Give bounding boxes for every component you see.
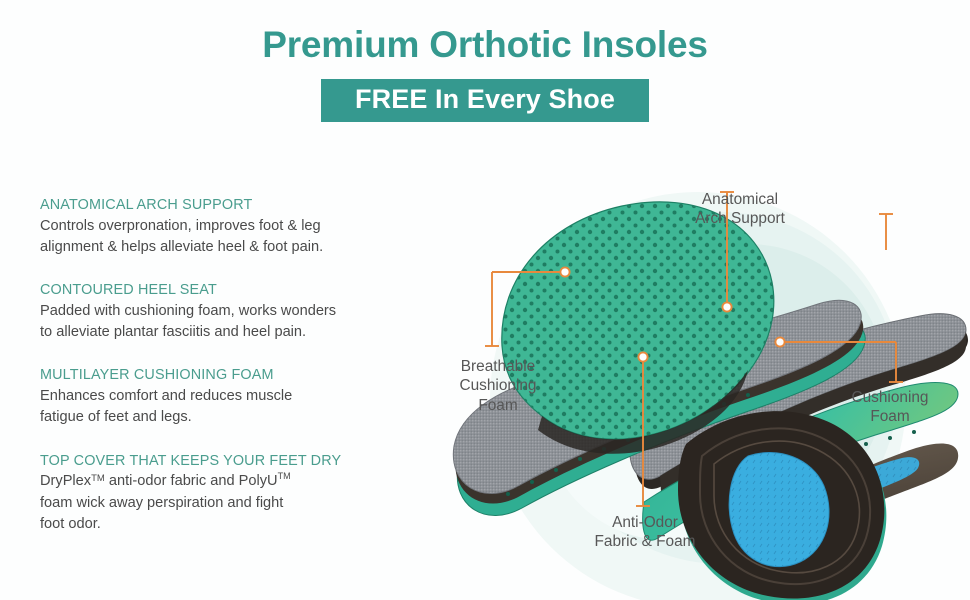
product-infographic: Premium Orthotic Insoles FREE In Every S…	[0, 0, 970, 600]
trademark-symbol: TM	[278, 472, 291, 482]
banner-wrapper: FREE In Every Shoe	[0, 79, 970, 122]
connector-node	[722, 302, 731, 311]
callout-line: Anti-Odor	[550, 513, 740, 532]
callout-breathable-cushioning-foam: Breathable Cushioning Foam	[428, 357, 568, 415]
trademark-symbol: TM	[91, 473, 105, 484]
page-title: Premium Orthotic Insoles	[0, 26, 970, 65]
feature-line: Padded with cushioning foam, works wonde…	[40, 303, 336, 319]
feature-line: Controls overpronation, improves foot & …	[40, 218, 321, 234]
product-illustration: Anatomical Arch Support Breathable Cushi…	[430, 150, 970, 600]
feature-title: ANATOMICAL ARCH SUPPORT	[40, 195, 435, 216]
feature-item-heel-seat: CONTOURED HEEL SEAT Padded with cushioni…	[40, 280, 435, 343]
feature-item-top-cover: TOP COVER THAT KEEPS YOUR FEET DRY DryPl…	[40, 451, 435, 535]
feature-item-arch-support: ANATOMICAL ARCH SUPPORT Controls overpro…	[40, 195, 435, 258]
callout-line: Anatomical	[655, 190, 825, 209]
feature-list: ANATOMICAL ARCH SUPPORT Controls overpro…	[40, 195, 435, 535]
feature-description: Enhances comfort and reduces muscle fati…	[40, 386, 435, 428]
callout-anatomical-arch-support: Anatomical Arch Support	[655, 190, 825, 229]
callout-anti-odor-fabric-foam: Anti-Odor Fabric & Foam	[550, 513, 740, 552]
feature-line: fatigue of feet and legs.	[40, 409, 192, 425]
callout-line: Foam	[428, 396, 568, 415]
feature-item-cushioning-foam: MULTILAYER CUSHIONING FOAM Enhances comf…	[40, 365, 435, 428]
connector-node	[638, 352, 647, 361]
feature-title: TOP COVER THAT KEEPS YOUR FEET DRY	[40, 451, 435, 472]
feature-line: to alleviate plantar fasciitis and heel …	[40, 324, 306, 340]
callout-line: Foam	[815, 407, 965, 426]
callout-cushioning-foam: Cushioning Foam	[815, 388, 965, 427]
feature-title: CONTOURED HEEL SEAT	[40, 280, 435, 301]
feature-description: DryPlexTM anti-odor fabric and PolyUTM f…	[40, 471, 435, 534]
callout-line: Breathable	[428, 357, 568, 376]
connector-node	[775, 337, 784, 346]
feature-line: anti-odor fabric and PolyU	[105, 473, 278, 489]
feature-title: MULTILAYER CUSHIONING FOAM	[40, 365, 435, 386]
callout-line: Cushioning	[815, 388, 965, 407]
feature-description: Controls overpronation, improves foot & …	[40, 216, 435, 258]
feature-description: Padded with cushioning foam, works wonde…	[40, 301, 435, 343]
feature-line: foam wick away perspiration and fight	[40, 495, 283, 511]
feature-line: foot odor.	[40, 516, 101, 532]
connector-node	[560, 267, 569, 276]
free-in-every-shoe-banner: FREE In Every Shoe	[321, 79, 649, 122]
header: Premium Orthotic Insoles FREE In Every S…	[0, 0, 970, 122]
callout-line: Fabric & Foam	[550, 532, 740, 551]
feature-line: alignment & helps alleviate heel & foot …	[40, 239, 323, 255]
callout-line: Cushioning	[428, 376, 568, 395]
brand-dryplex: DryPlex	[40, 473, 91, 489]
feature-line: Enhances comfort and reduces muscle	[40, 388, 292, 404]
callout-line: Arch Support	[655, 209, 825, 228]
